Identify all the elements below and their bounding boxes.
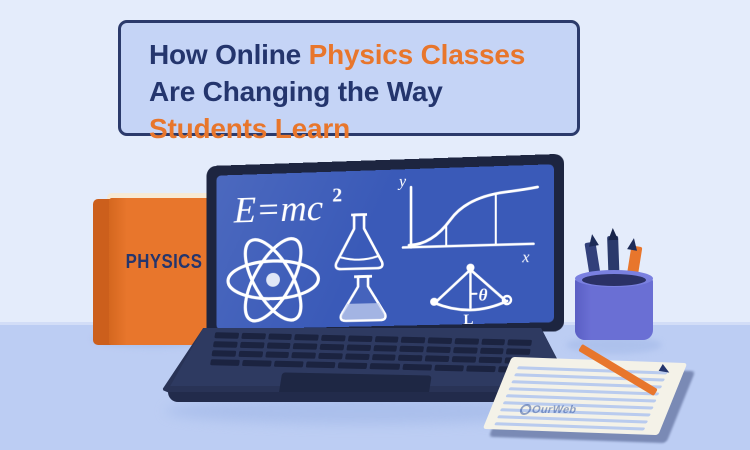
keyboard-key <box>238 351 263 358</box>
keyboard-key <box>402 364 432 371</box>
keyboard-key <box>241 333 266 340</box>
keyboard-key <box>321 335 346 342</box>
keyboard-key <box>466 365 496 372</box>
keyboard-key <box>370 363 400 370</box>
keyboard-key <box>506 348 531 355</box>
keyboard-key <box>294 334 319 341</box>
keyboard-key <box>428 337 453 344</box>
banner-headline: How Online Physics Classes Are Changing … <box>149 37 565 148</box>
notepad-paper <box>483 357 688 435</box>
keyboard-key <box>318 353 343 360</box>
pen-cup-opening <box>582 274 646 286</box>
keyboard-key <box>451 356 476 363</box>
keyboard-key <box>434 365 464 372</box>
keyboard-key <box>401 337 426 344</box>
headline-line-2: Are Changing the Way <box>149 76 443 107</box>
keyboard-key <box>345 353 370 360</box>
keyboard-key <box>346 344 371 351</box>
keyboard-key <box>479 348 504 355</box>
keyboard-key <box>373 345 398 352</box>
keyboard-key <box>213 341 238 348</box>
keyboard-key <box>338 362 368 369</box>
keyboard-key <box>398 355 423 362</box>
keyboard-key <box>454 338 479 345</box>
headline-line-1-part-2: Physics Classes <box>309 39 526 70</box>
keyboard-key <box>214 332 239 339</box>
screen-glare <box>216 164 554 329</box>
pen-cup-shading <box>575 276 591 340</box>
site-watermark: OurWeb <box>518 404 578 416</box>
headline-line-3: Students Learn <box>149 113 350 144</box>
keyboard-key <box>265 351 290 358</box>
pen-cup <box>572 228 658 340</box>
keyboard-key <box>507 339 532 346</box>
keyboard-key <box>371 354 396 361</box>
keyboard-key <box>266 342 291 349</box>
keyboard-key <box>306 362 336 369</box>
keyboard-key <box>242 360 272 367</box>
keyboard-key <box>399 346 424 353</box>
notepad-line <box>494 422 645 430</box>
keyboard-key <box>320 344 345 351</box>
keyboard-key <box>426 346 451 353</box>
notepad: OurWeb <box>496 358 682 444</box>
keyboard-key <box>425 355 450 362</box>
keyboard-key <box>374 336 399 343</box>
banner-canvas: How Online Physics Classes Are Changing … <box>0 0 750 450</box>
pencil-orange-tip <box>627 237 639 250</box>
laptop-screen: E=mc 2 <box>216 164 554 329</box>
keyboard-key <box>268 333 293 340</box>
keyboard-key <box>481 339 506 346</box>
keyboard-key <box>348 335 373 342</box>
keyboard-key <box>291 352 316 359</box>
watermark-text: OurWeb <box>530 404 578 416</box>
keyboard-key <box>274 361 304 368</box>
keyboard-key <box>453 347 478 354</box>
headline-line-1-part-1: How Online <box>149 39 309 70</box>
keyboard-key <box>211 350 236 357</box>
title-card: How Online Physics Classes Are Changing … <box>118 20 580 136</box>
keyboard-key <box>293 343 318 350</box>
keyboard-key <box>240 342 265 349</box>
pen-navy-2-tip <box>608 228 618 240</box>
keyboard-key <box>210 359 240 366</box>
pen-navy-1-tip <box>587 233 599 246</box>
